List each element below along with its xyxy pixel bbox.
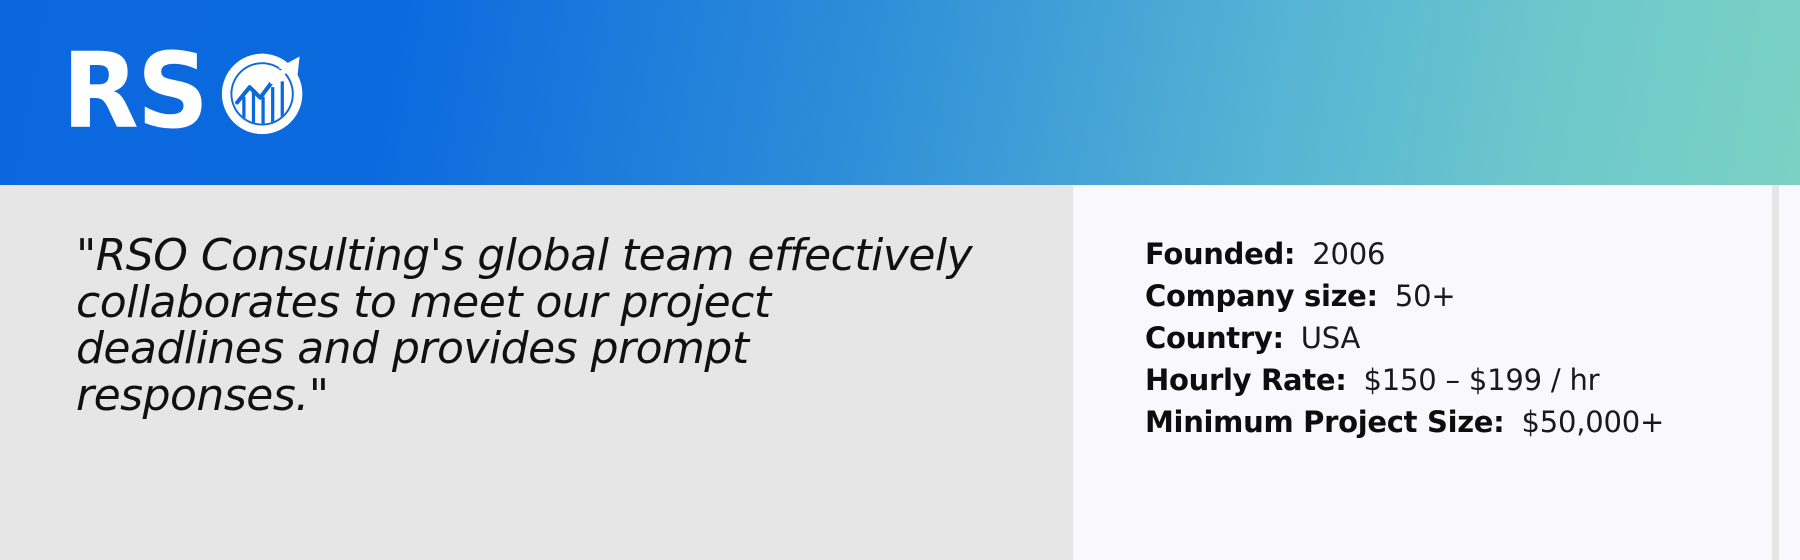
company-details-panel: Founded: 2006 Company size: 50+ Country:… (1073, 185, 1800, 560)
detail-label-country: Country: (1145, 321, 1284, 355)
detail-row-hourly-rate: Hourly Rate: $150 – $199 / hr (1145, 363, 1664, 405)
details-panel-right-edge (1779, 185, 1800, 560)
detail-row-country: Country: USA (1145, 321, 1664, 363)
brand-wordmark: RS (62, 39, 207, 143)
detail-row-minimum-project-size: Minimum Project Size: $50,000+ (1145, 405, 1664, 447)
detail-row-founded: Founded: 2006 (1145, 237, 1664, 279)
brand-header: RS (0, 0, 1800, 185)
detail-label-founded: Founded: (1145, 237, 1295, 271)
detail-value-minimum-project-size: $50,000+ (1521, 405, 1664, 439)
detail-label-hourly-rate: Hourly Rate: (1145, 363, 1347, 397)
company-details-list: Founded: 2006 Company size: 50+ Country:… (1145, 237, 1664, 447)
brand-logo[interactable]: RS (62, 39, 313, 143)
detail-row-company-size: Company size: 50+ (1145, 279, 1664, 321)
circular-growth-chart-arrow-icon (217, 43, 313, 139)
detail-label-minimum-project-size: Minimum Project Size: (1145, 405, 1504, 439)
detail-value-founded: 2006 (1312, 237, 1385, 271)
detail-value-hourly-rate: $150 – $199 / hr (1364, 363, 1600, 397)
detail-value-company-size: 50+ (1395, 279, 1456, 313)
company-profile-card: RS (0, 0, 1800, 560)
card-body: "RSO Consulting's global team effectivel… (0, 185, 1800, 560)
client-quote-text: "RSO Consulting's global team effectivel… (76, 233, 1036, 420)
detail-label-company-size: Company size: (1145, 279, 1378, 313)
client-quote-panel: "RSO Consulting's global team effectivel… (0, 185, 1073, 560)
panel-divider (1772, 185, 1779, 560)
detail-value-country: USA (1301, 321, 1360, 355)
